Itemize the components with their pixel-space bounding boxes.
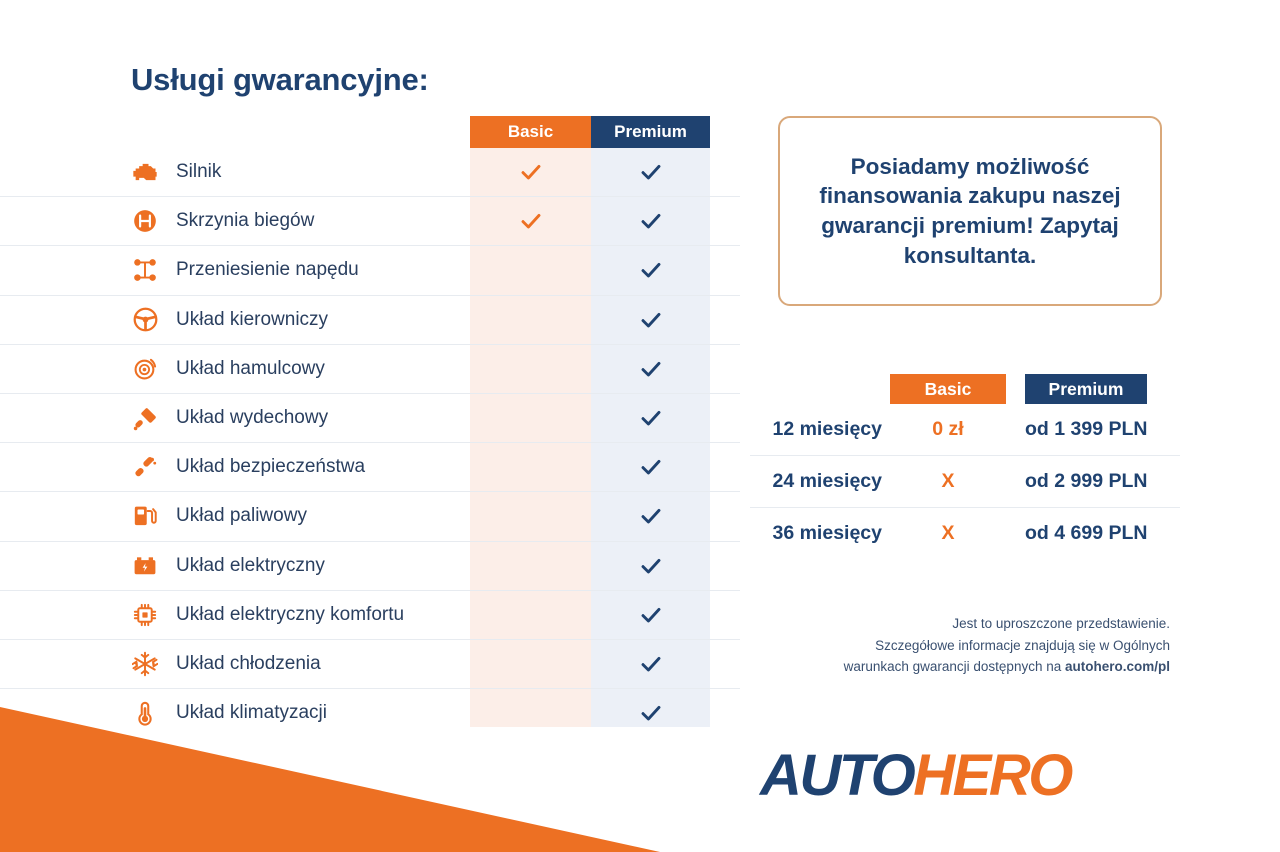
- feature-cell-basic: [470, 296, 591, 344]
- feature-cell-basic: [470, 689, 591, 737]
- pricing-header-basic: Basic: [890, 374, 1006, 404]
- feature-label: Układ klimatyzacji: [176, 702, 327, 724]
- disclaimer-line-2: Szczegółowe informacje znajdują się w Og…: [740, 635, 1170, 657]
- feature-cell-basic: [470, 591, 591, 639]
- feature-label: Układ wydechowy: [176, 407, 328, 429]
- feature-label: Układ elektryczny komfortu: [176, 604, 404, 626]
- pricing-term: 12 miesięcy: [750, 418, 890, 441]
- feature-cell-premium: [591, 640, 710, 688]
- pricing-row: 24 miesięcyXod 2 999 PLN: [750, 456, 1180, 508]
- feature-row: Układ paliwowy: [0, 492, 740, 541]
- pricing-rows: 12 miesięcy0 złod 1 399 PLN24 miesięcyXo…: [750, 404, 1180, 559]
- feature-cell-basic: [470, 542, 591, 590]
- check-icon: [519, 160, 543, 184]
- exhaust-icon: [131, 404, 159, 432]
- feature-cell-basic: [470, 246, 591, 294]
- feature-cell-basic: [470, 394, 591, 442]
- pricing-value-premium: od 4 699 PLN: [1025, 522, 1147, 545]
- disclaimer-text: Jest to uproszczone przedstawienie. Szcz…: [740, 613, 1170, 678]
- pricing-row: 36 miesięcyXod 4 699 PLN: [750, 508, 1180, 559]
- pricing-header-gap: [1006, 374, 1025, 404]
- check-icon: [639, 652, 663, 676]
- pricing-value-basic: X: [890, 522, 1006, 545]
- pricing-table-header: Basic Premium: [750, 374, 1180, 404]
- check-icon: [639, 357, 663, 381]
- feature-cell-premium: [591, 197, 710, 245]
- pricing-table: Basic Premium 12 miesięcy0 złod 1 399 PL…: [750, 374, 1180, 559]
- feature-cell-premium: [591, 443, 710, 491]
- logo-hero-text: HERO: [913, 743, 1071, 808]
- feature-row: Układ elektryczny: [0, 542, 740, 591]
- engine-icon: [131, 158, 159, 186]
- column-header-basic: Basic: [470, 116, 591, 148]
- feature-cell-basic: [470, 640, 591, 688]
- feature-label: Skrzynia biegów: [176, 210, 314, 232]
- check-icon: [639, 504, 663, 528]
- brake-icon: [131, 355, 159, 383]
- feature-label: Układ hamulcowy: [176, 358, 325, 380]
- feature-list: SilnikSkrzynia biegówPrzeniesienie napęd…: [0, 148, 740, 737]
- feature-cell-premium: [591, 591, 710, 639]
- check-icon: [639, 406, 663, 430]
- chip-icon: [131, 601, 159, 629]
- feature-cell-premium: [591, 492, 710, 540]
- feature-cell-premium: [591, 148, 710, 196]
- pricing-row: 12 miesięcy0 złod 1 399 PLN: [750, 404, 1180, 456]
- pricing-value-basic: X: [890, 470, 1006, 493]
- gearbox-icon: [131, 207, 159, 235]
- column-header-premium: Premium: [591, 116, 710, 148]
- check-icon: [639, 308, 663, 332]
- feature-row: Przeniesienie napędu: [0, 246, 740, 295]
- disclaimer-line-3-prefix: warunkach gwarancji dostępnych na: [844, 659, 1065, 674]
- financing-promo-text: Posiadamy możliwość finansowania zakupu …: [780, 152, 1160, 271]
- feature-row: Silnik: [0, 148, 740, 197]
- feature-cell-premium: [591, 689, 710, 737]
- feature-cell-premium: [591, 394, 710, 442]
- feature-row: Układ hamulcowy: [0, 345, 740, 394]
- financing-promo-box: Posiadamy możliwość finansowania zakupu …: [778, 116, 1162, 306]
- feature-label: Układ kierowniczy: [176, 309, 328, 331]
- feature-cell-premium: [591, 246, 710, 294]
- check-icon: [639, 701, 663, 725]
- snowflake-icon: [131, 650, 159, 678]
- feature-cell-basic: [470, 492, 591, 540]
- pricing-term: 24 miesięcy: [750, 470, 890, 493]
- feature-label: Przeniesienie napędu: [176, 259, 359, 281]
- pricing-header-premium: Premium: [1025, 374, 1147, 404]
- feature-cell-basic: [470, 197, 591, 245]
- feature-label: Silnik: [176, 161, 221, 183]
- check-icon: [639, 603, 663, 627]
- check-icon: [519, 209, 543, 233]
- feature-cell-premium: [591, 542, 710, 590]
- pricing-value-premium: od 2 999 PLN: [1025, 470, 1147, 493]
- check-icon: [639, 258, 663, 282]
- feature-label: Układ elektryczny: [176, 555, 325, 577]
- feature-cell-premium: [591, 345, 710, 393]
- autohero-website-link[interactable]: autohero.com/pl: [1065, 659, 1170, 674]
- fuel-pump-icon: [131, 502, 159, 530]
- check-icon: [639, 455, 663, 479]
- check-icon: [639, 209, 663, 233]
- battery-icon: [131, 552, 159, 580]
- drivetrain-icon: [131, 256, 159, 284]
- feature-cell-premium: [591, 296, 710, 344]
- feature-row: Układ wydechowy: [0, 394, 740, 443]
- feature-row: Układ elektryczny komfortu: [0, 591, 740, 640]
- check-icon: [639, 554, 663, 578]
- pricing-value-premium: od 1 399 PLN: [1025, 418, 1147, 441]
- steering-icon: [131, 306, 159, 334]
- feature-label: Układ bezpieczeństwa: [176, 456, 365, 478]
- check-icon: [639, 160, 663, 184]
- pricing-header-spacer: [750, 374, 890, 404]
- feature-row: Układ klimatyzacji: [0, 689, 740, 737]
- warranty-services-panel: Usługi gwarancyjne: Basic Premium Silnik…: [0, 0, 740, 852]
- feature-cell-basic: [470, 443, 591, 491]
- disclaimer-line-1: Jest to uproszczone przedstawienie.: [740, 613, 1170, 635]
- feature-row: Układ bezpieczeństwa: [0, 443, 740, 492]
- pricing-value-basic: 0 zł: [890, 418, 1006, 441]
- offer-panel: Posiadamy możliwość finansowania zakupu …: [740, 0, 1280, 852]
- logo-auto-text: AUTO: [760, 743, 913, 808]
- feature-label: Układ paliwowy: [176, 505, 307, 527]
- feature-row: Układ kierowniczy: [0, 296, 740, 345]
- feature-label: Układ chłodzenia: [176, 653, 321, 675]
- seatbelt-icon: [131, 453, 159, 481]
- thermometer-icon: [131, 699, 159, 727]
- feature-cell-basic: [470, 345, 591, 393]
- feature-row: Układ chłodzenia: [0, 640, 740, 689]
- feature-cell-basic: [470, 148, 591, 196]
- disclaimer-line-3: warunkach gwarancji dostępnych na autohe…: [740, 656, 1170, 678]
- page-title: Usługi gwarancyjne:: [131, 62, 429, 98]
- autohero-logo: AUTOHERO: [760, 742, 1071, 809]
- pricing-term: 36 miesięcy: [750, 522, 890, 545]
- feature-row: Skrzynia biegów: [0, 197, 740, 246]
